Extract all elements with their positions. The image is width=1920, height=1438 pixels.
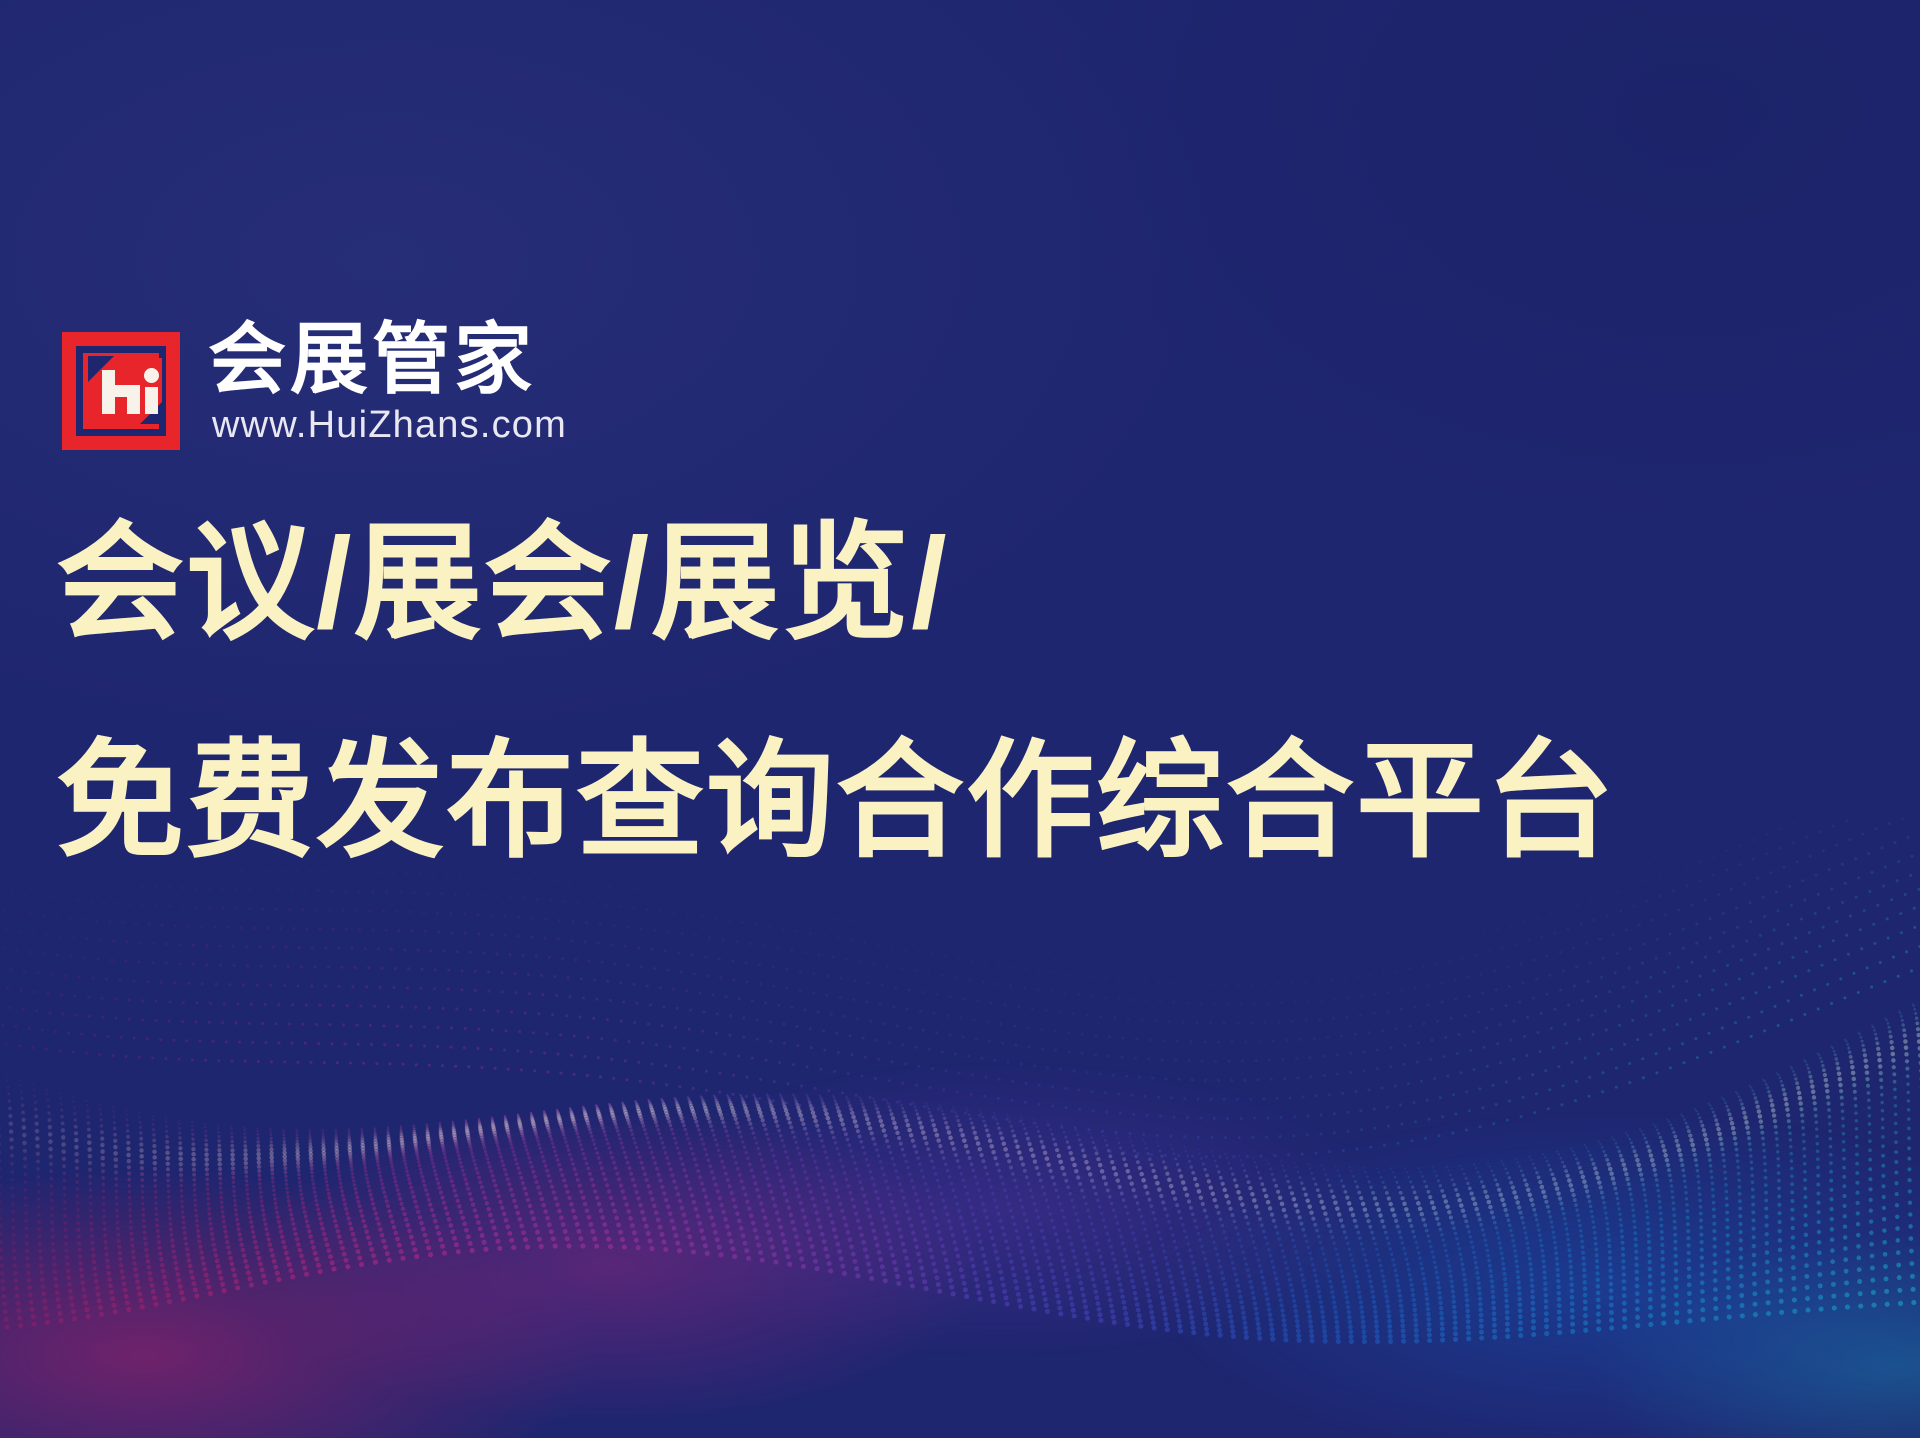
brand-text-block: 会展管家 www.HuiZhans.com [208,330,567,444]
hi-monogram-icon [62,332,180,450]
brand-lockup[interactable]: 会展管家 www.HuiZhans.com [62,330,567,450]
particle-wave-svg [0,818,1920,1438]
brand-name: 会展管家 [208,324,567,396]
headline-line-1: 会议/展会/展览/ [56,520,1856,648]
particle-wave-graphic [0,818,1920,1438]
logo-letter-i-dot [144,368,159,383]
logo-letter-h-right-stroke [127,385,140,414]
logo-letter-i-stem [145,387,158,414]
poster-canvas: 会展管家 www.HuiZhans.com 会议/展会/展览/ 免费发布查询合作… [0,0,1920,1438]
headline-block: 会议/展会/展览/ 免费发布查询合作综合平台 [56,520,1856,866]
brand-website-url[interactable]: www.HuiZhans.com [212,406,567,444]
